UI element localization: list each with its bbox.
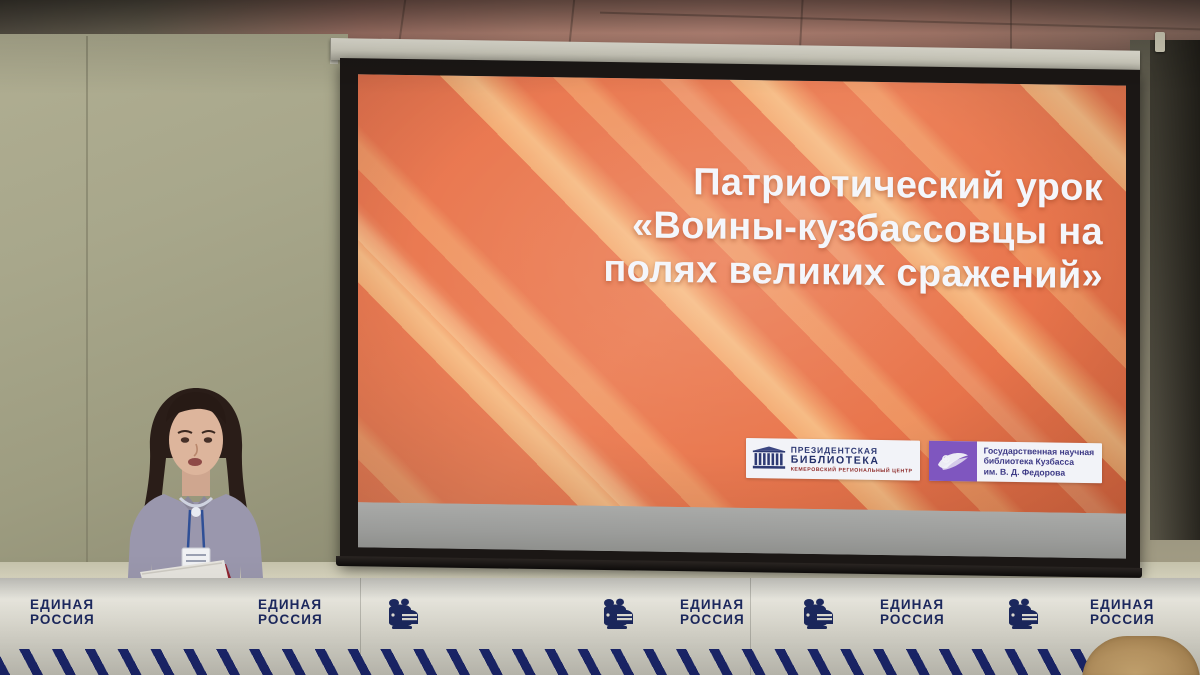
banner-logo-line-1: ЕДИНАЯ [258, 598, 323, 613]
wall-sensor-icon [1155, 32, 1165, 52]
banner-logo-text: ЕДИНАЯРОССИЯ [30, 598, 95, 627]
wall-panel-seam [86, 36, 88, 582]
banner-logo-line-1: ЕДИНАЯ [1090, 598, 1155, 613]
banner-logo-line-2: РОССИЯ [680, 613, 745, 628]
banner-logo-line-2: РОССИЯ [258, 613, 323, 628]
bear-icon [600, 596, 634, 632]
slide-canvas: Патриотический урок «Воины-кузбассовцы н… [358, 74, 1126, 513]
presenter-pendant [191, 507, 201, 517]
presenter-eye-left [181, 437, 189, 443]
kuzbass-library-text: Государственная научная библиотека Кузба… [977, 441, 1103, 483]
slide-title: Патриотический урок «Воины-кузбассовцы н… [389, 156, 1103, 299]
logo-presidential-library: ПРЕЗИДЕНТСКАЯ БИБЛИОТЕКА КЕМЕРОВСКИЙ РЕГ… [746, 438, 920, 481]
projector-screen: Патриотический урок «Воины-кузбассовцы н… [340, 58, 1140, 575]
library-building-icon [752, 445, 786, 472]
pl-line-2: БИБЛИОТЕКА [791, 455, 913, 467]
bear-icon [385, 596, 419, 632]
banner-logo-text: ЕДИНАЯРОССИЯ [1090, 598, 1155, 627]
bear-icon [1005, 596, 1039, 632]
logo-kuzbass-library: Государственная научная библиотека Кузба… [929, 440, 1103, 483]
slide-logo-row: ПРЕЗИДЕНТСКАЯ БИБЛИОТЕКА КЕМЕРОВСКИЙ РЕГ… [746, 438, 1103, 484]
banner-logo-text: ЕДИНАЯРОССИЯ [680, 598, 745, 627]
banner-logo-line-2: РОССИЯ [1090, 613, 1155, 628]
gnb-line-3: им. В. Д. Федорова [984, 467, 1095, 479]
photo-scene: Патриотический урок «Воины-кузбассовцы н… [0, 0, 1200, 675]
banner-stripe-pattern [0, 649, 1200, 675]
leaf-swoosh-icon [935, 448, 971, 475]
pl-line-3: КЕМЕРОВСКИЙ РЕГИОНАЛЬНЫЙ ЦЕНТР [791, 467, 913, 474]
presenter-mouth [188, 458, 202, 466]
banner-logo-line-1: ЕДИНАЯ [680, 598, 745, 613]
banner-logo-line-2: РОССИЯ [880, 613, 945, 628]
step-and-repeat-banner: ЕДИНАЯРОССИЯЕДИНАЯРОССИЯЕДИНАЯРОССИЯЕДИН… [0, 578, 1200, 675]
bear-icon [800, 596, 834, 632]
banner-logo-line-2: РОССИЯ [30, 613, 95, 628]
wall-right-shadow [1150, 40, 1200, 540]
presenter-eye-right [204, 437, 212, 443]
badge-line [186, 554, 206, 556]
banner-logo-line-1: ЕДИНАЯ [30, 598, 95, 613]
banner-logo-row: ЕДИНАЯРОССИЯЕДИНАЯРОССИЯЕДИНАЯРОССИЯЕДИН… [0, 598, 1200, 638]
presidential-library-text: ПРЕЗИДЕНТСКАЯ БИБЛИОТЕКА КЕМЕРОВСКИЙ РЕГ… [791, 445, 913, 474]
gnb-mark-box [929, 440, 977, 481]
badge-line [186, 560, 206, 562]
banner-logo-text: ЕДИНАЯРОССИЯ [880, 598, 945, 627]
projected-slide: Патриотический урок «Воины-кузбассовцы н… [358, 74, 1126, 558]
banner-logo-line-1: ЕДИНАЯ [880, 598, 945, 613]
banner-logo-text: ЕДИНАЯРОССИЯ [258, 598, 323, 627]
